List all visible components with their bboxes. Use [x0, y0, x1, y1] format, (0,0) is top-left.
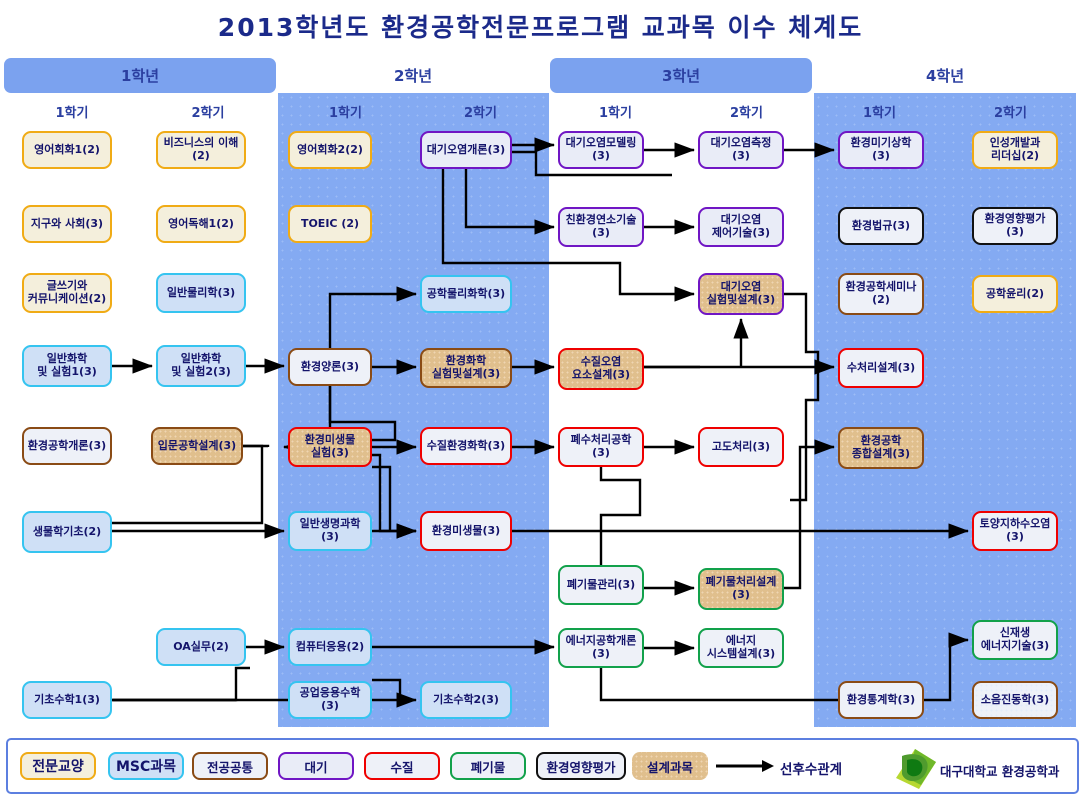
course-label: 환경영향평가(3) [976, 213, 1054, 239]
course-label: 비즈니스의 이해(2) [164, 137, 239, 163]
course-env-eng-seminar[interactable]: 환경공학세미나(2) [838, 273, 924, 315]
course-label: 인성개발과리더십(2) [990, 137, 1041, 163]
course-label: TOEIC (2) [301, 218, 359, 231]
course-noise-vibration[interactable]: 소음진동학(3) [972, 681, 1058, 719]
course-personality-lead[interactable]: 인성개발과리더십(2) [972, 131, 1058, 169]
course-energy-sys-design[interactable]: 에너지시스템설계(3) [698, 628, 784, 668]
course-label: 일반화학및 실험1(3) [37, 353, 97, 379]
course-label: 기초수학2(3) [433, 694, 499, 707]
course-english-conv1[interactable]: 영어회화1(2) [22, 131, 112, 169]
course-label: 대기오염실험및설계(3) [707, 281, 775, 307]
course-earth-society[interactable]: 지구와 사회(3) [22, 205, 112, 243]
course-gen-physics[interactable]: 일반물리학(3) [156, 273, 246, 313]
course-label: 폐기물관리(3) [567, 579, 635, 592]
course-waste-mgmt[interactable]: 폐기물관리(3) [558, 565, 644, 605]
course-label: 환경공학개론(3) [28, 440, 106, 453]
course-label: 공학윤리(2) [986, 288, 1044, 301]
course-env-law[interactable]: 환경법규(3) [838, 207, 924, 245]
course-label: 친환경연소기술(3) [566, 214, 637, 240]
course-env-impact-assess[interactable]: 환경영향평가(3) [972, 207, 1058, 245]
course-label: 환경화학실험및설계(3) [432, 355, 500, 381]
course-env-micro-lab[interactable]: 환경미생물실험(3) [288, 427, 372, 467]
course-toeic[interactable]: TOEIC (2) [288, 205, 372, 243]
course-renewable-energy[interactable]: 신재생에너지기술(3) [972, 620, 1058, 660]
course-label: 환경미기상학(3) [842, 137, 920, 163]
course-green-combustion[interactable]: 친환경연소기술(3) [558, 207, 644, 247]
course-wastewater-eng[interactable]: 폐수처리공학(3) [558, 427, 644, 467]
course-label: 영어회화2(2) [297, 144, 363, 157]
course-waste-treat-design[interactable]: 폐기물처리설계(3) [698, 568, 784, 610]
course-label: 신재생에너지기술(3) [981, 627, 1049, 653]
course-air-control-tech[interactable]: 대기오염제어기술(3) [698, 207, 784, 247]
course-eng-physchem[interactable]: 공학물리화학(3) [420, 275, 512, 313]
course-label: 환경법규(3) [852, 220, 910, 233]
course-advanced-treat[interactable]: 고도처리(3) [698, 427, 784, 467]
course-computer-app[interactable]: 컴퓨터응용(2) [288, 628, 372, 666]
course-label: 기초수학1(3) [34, 694, 100, 707]
course-label: 소음진동학(3) [981, 694, 1049, 707]
course-label: 대기오염개론(3) [427, 144, 505, 157]
course-english-conv2[interactable]: 영어회화2(2) [288, 131, 372, 169]
course-label: 대기오염모델링(3) [566, 137, 637, 163]
course-label: 환경미생물실험(3) [305, 434, 356, 460]
course-gen-life-sci[interactable]: 일반생명과학(3) [288, 511, 372, 551]
course-label: 영어회화1(2) [34, 144, 100, 157]
course-label: 일반화학및 실험2(3) [171, 353, 231, 379]
course-env-ecology[interactable]: 환경양론(3) [288, 348, 372, 386]
course-label: 대기오염제어기술(3) [712, 214, 770, 240]
course-env-statistics[interactable]: 환경통계학(3) [838, 681, 924, 719]
course-label: 수처리설계(3) [847, 362, 915, 375]
course-water-elem-design[interactable]: 수질오염요소설계(3) [558, 348, 644, 390]
course-water-env-chem[interactable]: 수질환경화학(3) [420, 427, 512, 465]
course-gen-chem2[interactable]: 일반화학및 실험2(3) [156, 345, 246, 387]
course-label: 폐수처리공학(3) [562, 434, 640, 460]
course-gen-chem1[interactable]: 일반화학및 실험1(3) [22, 345, 112, 387]
course-label: 환경양론(3) [301, 361, 359, 374]
course-basic-math1[interactable]: 기초수학1(3) [22, 681, 112, 719]
course-label: 컴퓨터응용(2) [296, 641, 364, 654]
course-env-capstone[interactable]: 환경공학종합설계(3) [838, 427, 924, 469]
course-bio-basics[interactable]: 생물학기초(2) [22, 511, 112, 553]
course-env-micro[interactable]: 환경미생물(3) [420, 511, 512, 551]
course-ind-applied-math[interactable]: 공업응용수학(3) [288, 681, 372, 719]
course-label: 토양지하수오염(3) [980, 518, 1051, 544]
course-label: 일반물리학(3) [167, 287, 235, 300]
course-label: 공업응용수학(3) [292, 687, 368, 713]
course-env-eng-intro[interactable]: 환경공학개론(3) [22, 427, 112, 465]
course-label: 글쓰기와커뮤니케이션(2) [28, 280, 106, 306]
course-air-lab-design[interactable]: 대기오염실험및설계(3) [698, 273, 784, 315]
course-label: 지구와 사회(3) [31, 218, 103, 231]
course-air-modeling[interactable]: 대기오염모델링(3) [558, 131, 644, 169]
course-label: 대기오염측정(3) [702, 137, 780, 163]
course-label: 에너지시스템설계(3) [707, 635, 775, 661]
course-label: 영어독해1(2) [168, 218, 234, 231]
course-label: 폐기물처리설계(3) [706, 576, 777, 602]
course-label: 일반생명과학(3) [292, 518, 368, 544]
course-label: 환경미생물(3) [432, 525, 500, 538]
course-water-treat-design[interactable]: 수처리설계(3) [838, 348, 924, 388]
course-business[interactable]: 비즈니스의 이해(2) [156, 131, 246, 169]
course-oa-practice[interactable]: OA실무(2) [156, 628, 246, 666]
diagram-root: 2013학년도 환경공학전문프로그램 교과목 이수 체계도 1학년2학년3학년4… [0, 0, 1081, 794]
course-air-pollution-intro[interactable]: 대기오염개론(3) [420, 131, 512, 169]
course-writing-comm[interactable]: 글쓰기와커뮤니케이션(2) [22, 273, 112, 313]
course-label: 공학물리화학(3) [427, 288, 505, 301]
course-label: 환경공학종합설계(3) [852, 435, 910, 461]
course-soil-groundwater[interactable]: 토양지하수오염(3) [972, 511, 1058, 551]
course-air-measure[interactable]: 대기오염측정(3) [698, 131, 784, 169]
course-label: 환경공학세미나(2) [846, 281, 917, 307]
course-eng-ethics[interactable]: 공학윤리(2) [972, 275, 1058, 313]
course-env-chem-lab[interactable]: 환경화학실험및설계(3) [420, 348, 512, 388]
course-label: 환경통계학(3) [847, 694, 915, 707]
course-label: 수질환경화학(3) [427, 440, 505, 453]
course-basic-math2[interactable]: 기초수학2(3) [420, 681, 512, 719]
course-label: 입문공학설계(3) [158, 440, 236, 453]
prerequisite-connectors [0, 0, 1081, 794]
course-env-micromet[interactable]: 환경미기상학(3) [838, 131, 924, 169]
course-label: OA실무(2) [173, 641, 229, 654]
course-english-read1[interactable]: 영어독해1(2) [156, 205, 246, 243]
course-label: 생물학기초(2) [33, 526, 101, 539]
course-energy-eng-intro[interactable]: 에너지공학개론(3) [558, 628, 644, 668]
course-intro-eng-design[interactable]: 입문공학설계(3) [151, 427, 243, 465]
course-label: 에너지공학개론(3) [566, 635, 637, 661]
course-label: 수질오염요소설계(3) [572, 356, 630, 382]
course-label: 고도처리(3) [712, 441, 770, 454]
